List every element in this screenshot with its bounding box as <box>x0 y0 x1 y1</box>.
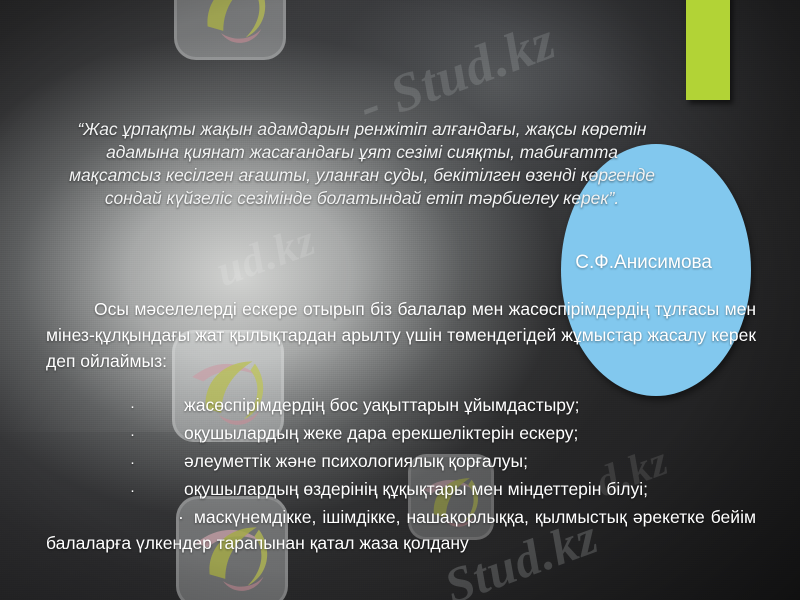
list-item-label: маскүнемдікке, ішімдікке, нашақорлыққа, … <box>46 507 756 553</box>
list-item: · оқушылардың жеке дара ерекшеліктерін е… <box>46 420 756 448</box>
bullet-marker-icon: · <box>130 450 144 476</box>
list-item-label: оқушылардың жеке дара ерекшеліктерін еск… <box>184 420 756 446</box>
bullet-marker-icon: · <box>130 422 144 448</box>
bullet-marker-icon: · <box>130 394 144 420</box>
bullet-marker-icon: · <box>130 478 144 504</box>
list-item: · әлеуметтік және психологиялық қорғалуы… <box>46 448 756 476</box>
bullet-marker-icon: · <box>178 507 184 527</box>
list-item-label: әлеуметтік және психологиялық қорғалуы; <box>184 448 756 474</box>
quote-author: С.Ф.Анисимова <box>300 252 712 274</box>
list-item: ·маскүнемдікке, ішімдікке, нашақорлыққа,… <box>46 504 756 556</box>
presentation-slide: - Stud.kz Stud.kz ud.kz d.kz “Жас ұрпақт… <box>0 0 800 600</box>
body-paragraph: Осы мәселелерді ескере отырып біз балала… <box>46 296 756 374</box>
green-accent-rectangle <box>686 0 730 100</box>
list-item: · оқушылардың өздерінің құқықтары мен мі… <box>46 476 756 504</box>
list-item-label: жасөспірімдердің бос уақыттарын ұйымдаст… <box>184 392 756 418</box>
bullet-list: · жасөспірімдердің бос уақыттарын ұйымда… <box>46 392 756 556</box>
list-item-label: оқушылардың өздерінің құқықтары мен мінд… <box>184 476 756 502</box>
quote-text: “Жас ұрпақты жақын адамдарын ренжітіп ал… <box>62 118 662 210</box>
list-item: · жасөспірімдердің бос уақыттарын ұйымда… <box>46 392 756 420</box>
